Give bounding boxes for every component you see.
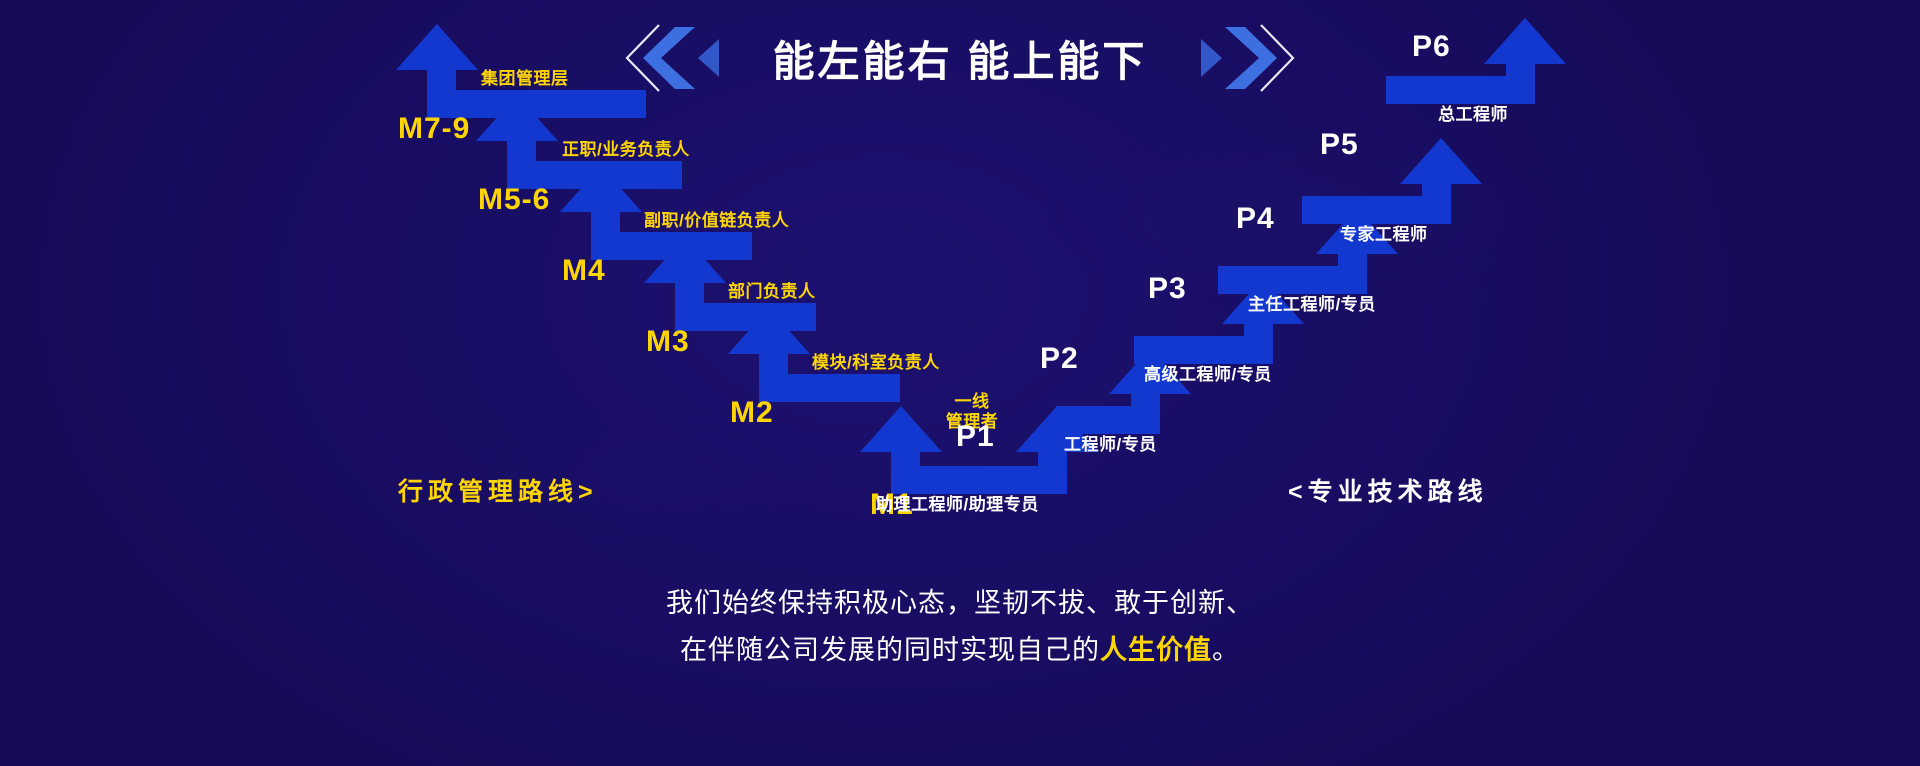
rank-label: P2 (1040, 342, 1079, 376)
desc-label: 高级工程师/专员 (1144, 360, 1272, 385)
professional-track-caption: <专业技术路线 (1288, 472, 1488, 508)
rank-label: P4 (1236, 202, 1275, 236)
footer-slogan: 我们始终保持积极心态，坚韧不拔、敢于创新、 在伴随公司发展的同时实现自己的人生价… (0, 580, 1920, 675)
desc-label: 模块/科室负责人 (812, 348, 940, 373)
desc-label: 部门负责人 (728, 277, 816, 302)
rank-label: M2 (730, 396, 774, 430)
desc-label: 主任工程师/专员 (1248, 290, 1376, 315)
desc-label: 助理工程师/助理专员 (876, 490, 1039, 515)
rank-label: M4 (562, 254, 606, 288)
rank-label: P6 (1412, 30, 1451, 64)
footer-line-2-pre: 在伴随公司发展的同时实现自己的 (680, 635, 1100, 665)
page-title: 能左能右 能上能下 (773, 28, 1148, 89)
step-p5[interactable]: P5 专家工程师 (1292, 138, 1592, 268)
desc-label: 集团管理层 (481, 64, 569, 89)
desc-label: 正职/业务负责人 (562, 135, 690, 160)
rank-label: M5-6 (478, 183, 550, 217)
rank-label: P3 (1148, 272, 1187, 306)
double-chevron-right-icon (1173, 23, 1313, 93)
desc-label: 专家工程师 (1340, 220, 1428, 245)
footer-line-2-post: 。 (1212, 635, 1240, 665)
rank-label: P1 (956, 420, 995, 454)
slide-canvas: 能左能右 能上能下 M7-9 集团管理层 M5-6 正职/业务负责人 M4 副职 (0, 0, 1920, 766)
step-p6[interactable]: P6 总工程师 (1376, 18, 1676, 148)
rank-label: P5 (1320, 128, 1359, 162)
footer-line-1: 我们始终保持积极心态，坚韧不拔、敢于创新、 (0, 580, 1920, 627)
management-track-caption: 行政管理路线> (398, 472, 598, 508)
footer-line-2: 在伴随公司发展的同时实现自己的人生价值。 (0, 627, 1920, 674)
desc-label: 工程师/专员 (1064, 430, 1157, 455)
rank-label: M7-9 (398, 112, 470, 146)
rank-label: M3 (646, 325, 690, 359)
desc-label: 副职/价值链负责人 (644, 206, 789, 231)
footer-highlight: 人生价值 (1100, 635, 1212, 665)
desc-label: 总工程师 (1438, 100, 1508, 125)
